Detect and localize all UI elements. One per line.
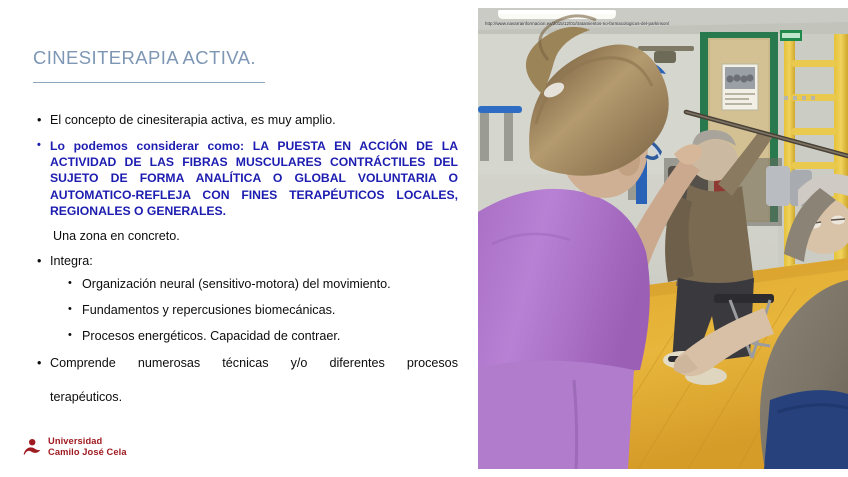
slide-photo: http://www.navarrainformacion.es/2015/12…: [478, 8, 848, 469]
title-underline-rule: [33, 82, 265, 83]
bullet-glyph: •: [37, 253, 41, 270]
logo-text-line1: Universidad: [48, 436, 127, 447]
list-item-emphasis: • Lo podemos considerar como: LA PUESTA …: [0, 138, 478, 219]
logo-text: Universidad Camilo José Cela: [48, 436, 127, 458]
sub-list-item-text: Fundamentos y repercusiones biomecánicas…: [82, 303, 335, 317]
list-item-justified: • Comprende numerosas técnicas y/o difer…: [0, 355, 478, 406]
list-item: • Integra:: [0, 253, 478, 270]
sub-list-item-text: Procesos energéticos. Capacidad de contr…: [82, 329, 340, 343]
bullet-glyph: •: [68, 276, 72, 292]
list-item-text: El concepto de cinesiterapia activa, es …: [50, 113, 336, 127]
slide-text-column: CINESITERAPIA ACTIVA. • El concepto de c…: [0, 0, 478, 477]
list-item-text-line2: terapéuticos.: [50, 390, 122, 404]
sub-list-item: • Procesos energéticos. Capacidad de con…: [0, 328, 478, 345]
list-item-text: Lo podemos considerar como: LA PUESTA EN…: [50, 139, 458, 218]
photo-source-url: http://www.navarrainformacion.es/2015/12…: [485, 21, 669, 26]
university-logo: Universidad Camilo José Cela: [22, 436, 127, 458]
sub-list-item: • Fundamentos y repercusiones biomecánic…: [0, 302, 478, 319]
list-item-plain: Una zona en concreto.: [0, 228, 478, 245]
page-title: CINESITERAPIA ACTIVA.: [33, 47, 256, 69]
sub-list-item-text: Organización neural (sensitivo-motora) d…: [82, 277, 391, 291]
slide-body: • El concepto de cinesiterapia activa, e…: [0, 112, 478, 406]
gym-therapy-photo: [478, 8, 848, 469]
bullet-glyph: •: [37, 112, 41, 129]
list-item-text-line1: Comprende numerosas técnicas y/o diferen…: [50, 355, 458, 389]
bullet-glyph: •: [68, 302, 72, 318]
presentation-slide: CINESITERAPIA ACTIVA. • El concepto de c…: [0, 0, 848, 477]
sub-list-item: • Organización neural (sensitivo-motora)…: [0, 276, 478, 293]
logo-text-line2: Camilo José Cela: [48, 447, 127, 458]
person-swoosh-icon: [22, 437, 42, 457]
bullet-glyph: •: [37, 355, 41, 372]
list-item: • El concepto de cinesiterapia activa, e…: [0, 112, 478, 129]
bullet-glyph: •: [68, 328, 72, 344]
list-item-text: Integra:: [50, 254, 93, 268]
bullet-glyph: •: [37, 138, 41, 153]
